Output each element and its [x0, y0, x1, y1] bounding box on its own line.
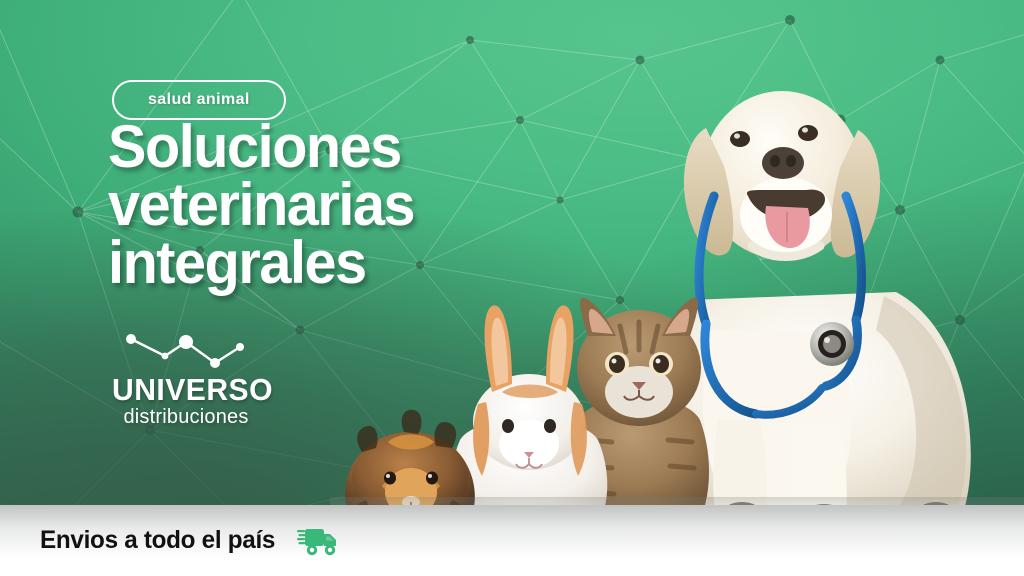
veterinary-promo-banner: salud animal Soluciones veterinarias int… [0, 0, 1024, 576]
headline-line-2: veterinarias [108, 176, 414, 234]
brand-wordmark: UNIVERSO [112, 374, 287, 405]
brand-tagline: distribuciones [112, 407, 260, 427]
brand-logo: UNIVERSO distribuciones [112, 330, 292, 427]
shipping-bar-content: Envios a todo el país [40, 505, 338, 576]
headline-line-1: Soluciones [108, 118, 414, 176]
delivery-truck-icon [296, 524, 338, 557]
constellation-mark-icon [118, 330, 268, 372]
page-title: Soluciones veterinarias integrales [108, 118, 414, 293]
category-badge-label: salud animal [148, 91, 250, 109]
shipping-text: Envios a todo el país [40, 526, 275, 555]
banner-content: salud animal Soluciones veterinarias int… [0, 0, 560, 576]
headline-line-3: integrales [108, 234, 414, 292]
